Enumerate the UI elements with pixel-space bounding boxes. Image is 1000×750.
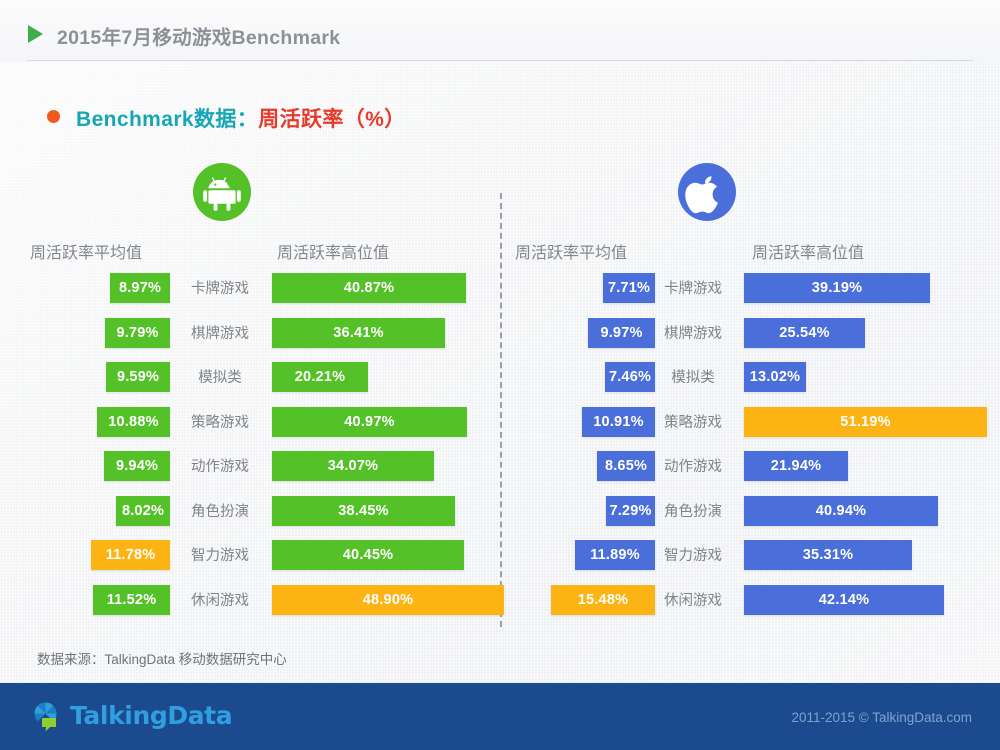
bar-average-3: 9.59%	[106, 362, 170, 392]
bar-high-7: 35.31%	[744, 540, 912, 570]
bar-high-5: 34.07%	[272, 451, 434, 481]
chart-row: 11.89%智力游戏35.31%	[485, 540, 1000, 585]
category-label-1: 卡牌游戏	[175, 277, 265, 298]
chart-row: 10.88%策略游戏40.97%	[0, 407, 500, 452]
slide-header: 2015年7月移动游戏Benchmark	[0, 0, 1000, 62]
bar-average-4: 10.91%	[582, 407, 655, 437]
category-label-3: 模拟类	[175, 366, 265, 387]
category-label-6: 角色扮演	[175, 500, 265, 521]
bar-average-1: 8.97%	[110, 273, 170, 303]
bullet-dot-icon	[47, 110, 60, 123]
section-title: Benchmark数据：周活跃率（%）	[76, 103, 406, 133]
page-title: 2015年7月移动游戏Benchmark	[57, 21, 340, 50]
bar-average-7: 11.78%	[91, 540, 170, 570]
bar-high-2: 25.54%	[744, 318, 865, 348]
bar-average-5: 8.65%	[597, 451, 655, 481]
chart-row: 11.78%智力游戏40.45%	[0, 540, 500, 585]
bar-high-1: 40.87%	[272, 273, 466, 303]
category-label-6: 角色扮演	[648, 500, 738, 521]
bar-average-8: 15.48%	[551, 585, 655, 615]
category-label-4: 策略游戏	[648, 411, 738, 432]
section-title-highlight: 周活跃率（%）	[258, 108, 405, 131]
footer-copyright: 2011-2015 © TalkingData.com	[791, 710, 972, 725]
category-label-5: 动作游戏	[648, 455, 738, 476]
bar-high-8: 48.90%	[272, 585, 504, 615]
bar-high-7: 40.45%	[272, 540, 464, 570]
chart-panel-android: 8.97%卡牌游戏40.87%9.79%棋牌游戏36.41%9.59%模拟类20…	[0, 273, 500, 629]
chart-row: 11.52%休闲游戏48.90%	[0, 585, 500, 630]
category-label-1: 卡牌游戏	[648, 277, 738, 298]
category-label-7: 智力游戏	[175, 544, 265, 565]
chart-row: 7.29%角色扮演40.94%	[485, 496, 1000, 541]
bar-average-8: 11.52%	[93, 585, 170, 615]
talkingdata-logo-icon	[30, 700, 64, 734]
chart-row: 15.48%休闲游戏42.14%	[485, 585, 1000, 630]
chart-row: 10.91%策略游戏51.19%	[485, 407, 1000, 452]
chart-row: 9.59%模拟类20.21%	[0, 362, 500, 407]
bar-high-2: 36.41%	[272, 318, 445, 348]
bar-high-3: 13.02%	[744, 362, 806, 392]
slide-canvas: 2015年7月移动游戏Benchmark Benchmark数据：周活跃率（%）	[0, 0, 1000, 750]
bar-average-6: 8.02%	[116, 496, 170, 526]
column-header-ios-high: 周活跃率高位值	[752, 239, 864, 263]
bar-high-8: 42.14%	[744, 585, 944, 615]
bar-high-1: 39.19%	[744, 273, 930, 303]
chart-row: 8.97%卡牌游戏40.87%	[0, 273, 500, 318]
column-header-ios-average: 周活跃率平均值	[515, 239, 627, 263]
category-label-2: 棋牌游戏	[175, 322, 265, 343]
column-header-android-high: 周活跃率高位值	[277, 239, 389, 263]
play-triangle-icon	[28, 25, 43, 43]
bar-average-7: 11.89%	[575, 540, 655, 570]
android-robot-icon	[193, 163, 251, 221]
header-divider	[27, 60, 973, 61]
bar-high-6: 38.45%	[272, 496, 455, 526]
section-title-prefix: Benchmark数据：	[76, 108, 258, 131]
bar-high-4: 51.19%	[744, 407, 987, 437]
source-note: 数据来源：TalkingData 移动数据研究中心	[37, 648, 287, 668]
chart-row: 8.65%动作游戏21.94%	[485, 451, 1000, 496]
bar-high-4: 40.97%	[272, 407, 467, 437]
bar-average-5: 9.94%	[104, 451, 170, 481]
chart-row: 9.94%动作游戏34.07%	[0, 451, 500, 496]
category-label-2: 棋牌游戏	[648, 322, 738, 343]
chart-row: 8.02%角色扮演38.45%	[0, 496, 500, 541]
chart-row: 7.46%模拟类13.02%	[485, 362, 1000, 407]
bar-high-3: 20.21%	[272, 362, 368, 392]
chart-row: 9.97%棋牌游戏25.54%	[485, 318, 1000, 363]
bar-high-5: 21.94%	[744, 451, 848, 481]
bar-average-4: 10.88%	[97, 407, 170, 437]
bar-high-6: 40.94%	[744, 496, 938, 526]
bar-average-2: 9.97%	[588, 318, 655, 348]
category-label-8: 休闲游戏	[648, 589, 738, 610]
apple-logo-icon	[678, 163, 736, 221]
category-label-4: 策略游戏	[175, 411, 265, 432]
bar-average-2: 9.79%	[105, 318, 170, 348]
category-label-8: 休闲游戏	[175, 589, 265, 610]
chart-row: 7.71%卡牌游戏39.19%	[485, 273, 1000, 318]
chart-row: 9.79%棋牌游戏36.41%	[0, 318, 500, 363]
category-label-7: 智力游戏	[648, 544, 738, 565]
category-label-3: 模拟类	[648, 366, 738, 387]
footer-logo-text: TalkingData	[70, 701, 232, 730]
chart-panel-ios: 7.71%卡牌游戏39.19%9.97%棋牌游戏25.54%7.46%模拟类13…	[485, 273, 1000, 629]
column-header-android-average: 周活跃率平均值	[30, 239, 142, 263]
category-label-5: 动作游戏	[175, 455, 265, 476]
